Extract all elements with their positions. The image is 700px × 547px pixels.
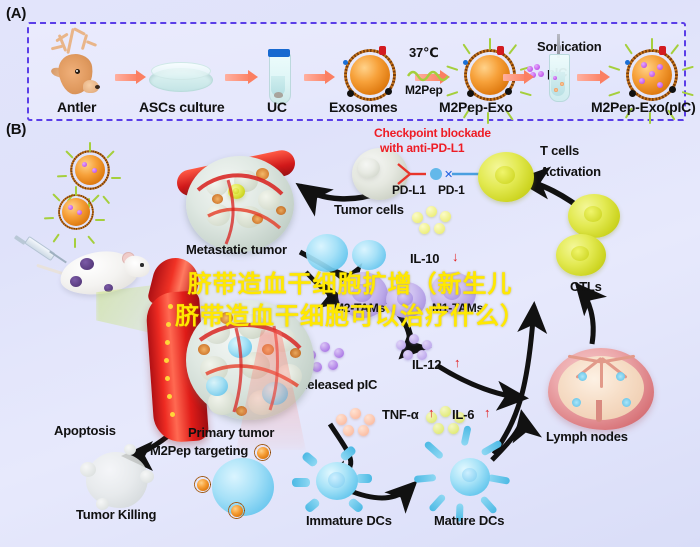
il6-trend-icon: ↑ xyxy=(484,406,490,419)
label-apoptosis: Apoptosis xyxy=(54,424,116,437)
label-activation: Activation xyxy=(540,165,601,178)
panel-a-tag: (A) xyxy=(6,6,26,21)
process-arrow-2 xyxy=(225,74,249,81)
scientific-figure: (A) Antler ASCs culture xyxy=(0,0,700,547)
label-checkpoint-line1: Checkpoint blockade xyxy=(374,127,491,139)
watermark-line-2: 脐带造血干细胞可以治疗什么） xyxy=(0,296,700,331)
panel-a-label-antler: Antler xyxy=(57,100,96,114)
label-t-cells: T cells xyxy=(540,144,579,157)
exosome-icon xyxy=(339,44,401,106)
label-primary-tumor: Primary tumor xyxy=(188,426,274,439)
label-tumor-cells: Tumor cells xyxy=(334,203,404,216)
label-metastatic-tumor: Metastatic tumor xyxy=(186,243,287,256)
label-immature-dcs: Immature DCs xyxy=(306,514,392,527)
label-pdl1: PD-L1 xyxy=(392,184,426,196)
process-arrow-1 xyxy=(115,74,137,81)
ctl-cell-1 xyxy=(568,194,620,238)
sonication-label: Sonication xyxy=(537,40,601,53)
il12-trend-icon: ↑ xyxy=(454,356,460,369)
label-il6: IL-6 xyxy=(452,408,474,421)
label-checkpoint-line2: with anti-PD-L1 xyxy=(380,142,464,154)
exosome-target-1 xyxy=(252,442,274,464)
tumor-cell-lobe xyxy=(358,158,380,178)
panel-a-label-exosomes: Exosomes xyxy=(329,100,397,114)
process-arrow-6 xyxy=(577,74,601,81)
t-cell-graphic xyxy=(478,152,534,202)
label-pd1: PD-1 xyxy=(438,184,465,196)
blockade-x-icon: ✕ xyxy=(444,168,453,181)
process-arrow-3 xyxy=(304,74,326,81)
label-il12: IL-12 xyxy=(412,358,441,371)
m2pep-squiggle-icon xyxy=(407,68,449,82)
immature-dc-graphic xyxy=(300,448,370,512)
process-arrow-5 xyxy=(503,74,525,81)
label-m2pep-targeting: M2Pep targeting xyxy=(150,444,248,457)
exosome-target-2 xyxy=(192,474,214,496)
panel-a-label-m2pep-exo-pic: M2Pep-Exo(pIC) xyxy=(591,100,696,114)
mature-dc-graphic xyxy=(430,440,508,512)
tnfa-trend-icon: ↑ xyxy=(428,406,434,419)
label-tnfa: TNF-α xyxy=(382,408,419,421)
panel-b-tag: (B) xyxy=(6,122,26,137)
exosome-particle-2 xyxy=(50,186,102,238)
il10-trend-icon: ↓ xyxy=(452,250,458,263)
label-tumor-killing: Tumor Killing xyxy=(76,508,156,521)
panel-a-container: Antler ASCs culture UC Exosomes xyxy=(27,22,686,121)
panel-a-label-uc: UC xyxy=(267,100,287,114)
exosome-target-3 xyxy=(226,500,248,522)
watermark-line-1: 脐带造血干细胞扩增（新生儿 xyxy=(0,264,700,299)
label-mature-dcs: Mature DCs xyxy=(434,514,504,527)
temperature-label: 37℃ xyxy=(409,46,439,59)
panel-a-label-m2pep: M2Pep xyxy=(405,84,443,96)
panel-a-label-m2pep-exo: M2Pep-Exo xyxy=(439,100,513,114)
panel-a-label-ascs: ASCs culture xyxy=(139,100,225,114)
label-lymph-nodes: Lymph nodes xyxy=(546,430,628,443)
